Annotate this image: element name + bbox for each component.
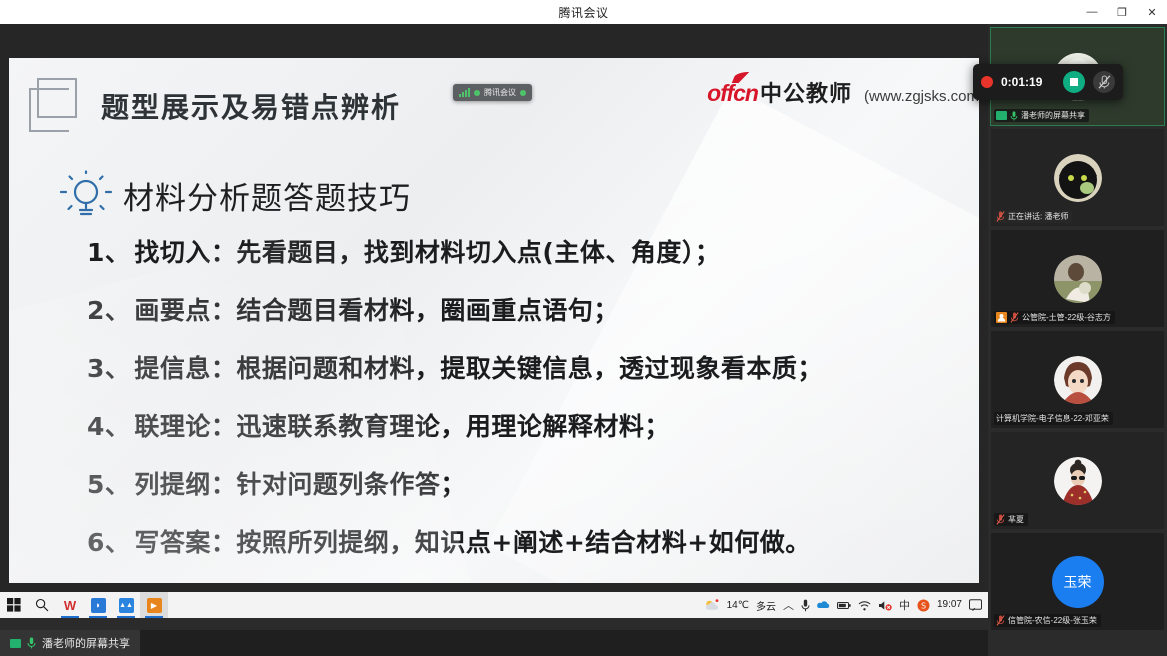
participant-rail: 潘老师的屏幕共享: [988, 24, 1167, 632]
avatar-initials: 玉荣: [1064, 572, 1092, 592]
slide-point: 5、 列提纲：针对问题列条作答；: [87, 465, 967, 501]
share-status-label: 潘老师的屏幕共享: [42, 635, 130, 651]
tencent-meeting-icon: ▶: [147, 598, 162, 613]
slide-point: 1、 找切入：先看题目，找到材料切入点(主体、角度）；: [87, 233, 967, 269]
slide-point: 2、 画要点：结合题目看材料，圈画重点语句；: [87, 291, 967, 327]
participant-tile[interactable]: 芈夏: [991, 432, 1164, 529]
below-taskbar-strip: [0, 618, 988, 630]
recording-control-bar[interactable]: 0:01:19: [973, 64, 1123, 100]
microphone-icon[interactable]: [801, 599, 810, 612]
slide-points-list: 1、 找切入：先看题目，找到材料切入点(主体、角度）； 2、 画要点：结合题目看…: [87, 233, 967, 581]
taskbar-app-tencent-meeting[interactable]: ▶: [140, 592, 168, 618]
screen-share-indicator-pill[interactable]: 腾讯会议: [453, 84, 532, 101]
tencent-meeting-window: 腾讯会议 — ❐ ✕ 题型展示及易错点辨析 offcn 中公教师 (www.zg…: [0, 0, 1167, 656]
share-status-bar: 潘老师的屏幕共享: [0, 630, 988, 656]
system-tray: 14℃ 多云 ︿: [704, 592, 988, 618]
share-status-chip[interactable]: 潘老师的屏幕共享: [0, 630, 140, 656]
participant-name: 计算机学院-电子信息-22-邓亚荣: [996, 413, 1109, 424]
participant-name: 正在讲话: 潘老师: [1008, 211, 1068, 222]
taskbar-app-blue-note[interactable]: ◗: [84, 592, 112, 618]
signal-bars-icon: [459, 88, 470, 97]
offcn-wordmark: offcn: [707, 80, 758, 107]
window-title: 腾讯会议: [90, 4, 1077, 21]
participant-name: 公管院-土管-22级-谷志方: [1022, 312, 1111, 323]
avatar: 玉荣: [1052, 556, 1104, 608]
participant-name: 芈夏: [1008, 514, 1024, 525]
participant-tile-host[interactable]: 公管院-土管-22级-谷志方: [991, 230, 1164, 327]
ime-indicator-icon[interactable]: 中: [899, 597, 910, 613]
slide-subtitle-row: 材料分析题答题技巧: [57, 168, 411, 222]
participant-name: 潘老师的屏幕共享: [1021, 110, 1085, 121]
onedrive-icon[interactable]: [817, 599, 830, 611]
participant-tile-speaker[interactable]: 正在讲话: 潘老师: [991, 129, 1164, 226]
offcn-chinese-name: 中公教师: [760, 76, 852, 108]
wps-icon: W: [64, 598, 76, 613]
point-text: 列提纲：针对问题列条作答；: [134, 465, 466, 501]
microphone-off-icon: [996, 514, 1005, 525]
blue-mountain-icon: ▲▲: [119, 598, 134, 613]
slide-point: 4、 联理论：迅速联系教育理论，用理论解释材料；: [87, 407, 967, 443]
tile-label: 信管院-农信-22级-张玉荣: [994, 614, 1101, 627]
screen-share-icon: [996, 111, 1007, 120]
svg-text:S: S: [921, 601, 926, 610]
point-text: 提信息：根据问题和材料，提取关键信息，透过现象看本质；: [134, 349, 823, 385]
status-dot-icon: [474, 90, 480, 96]
mute-microphone-button[interactable]: [1093, 71, 1115, 93]
taskbar-app-blue-mountain[interactable]: ▲▲: [112, 592, 140, 618]
point-text: 写答案：按照所列提纲，知识点+阐述+结合材料+如何做。: [134, 523, 810, 559]
slide-title: 题型展示及易错点辨析: [101, 86, 401, 126]
recording-timer: 0:01:19: [1001, 75, 1055, 89]
presentation-slide: 题型展示及易错点辨析 offcn 中公教师 (www.zgjsks.com: [9, 58, 979, 583]
tile-label: 公管院-土管-22级-谷志方: [994, 311, 1115, 324]
screen-share-icon: [10, 639, 21, 648]
action-center-icon[interactable]: [969, 599, 982, 611]
slide-point: 6、 写答案：按照所列提纲，知识点+阐述+结合材料+如何做。: [87, 523, 967, 559]
stop-recording-button[interactable]: [1063, 71, 1085, 93]
avatar: [1054, 255, 1102, 303]
point-number: 6、: [87, 523, 130, 559]
lightbulb-icon: [57, 168, 115, 222]
tile-label: 正在讲话: 潘老师: [994, 210, 1072, 223]
tray-overflow-chevron-icon[interactable]: ︿: [783, 597, 794, 613]
microphone-off-icon: [996, 211, 1005, 222]
tile-label: 芈夏: [994, 513, 1028, 526]
tile-label: 潘老师的屏幕共享: [994, 109, 1089, 122]
search-icon: [35, 598, 49, 612]
microphone-off-icon: [1010, 312, 1019, 323]
avatar: [1054, 356, 1102, 404]
window-titlebar: 腾讯会议 — ❐ ✕: [0, 0, 1167, 24]
host-badge-icon: [996, 312, 1007, 323]
volume-muted-icon[interactable]: [878, 600, 892, 611]
tile-label: 计算机学院-电子信息-22-邓亚荣: [994, 412, 1113, 425]
taskbar-search-button[interactable]: [28, 592, 56, 618]
share-pill-label: 腾讯会议: [484, 87, 516, 98]
taskbar-app-wps-office[interactable]: W: [56, 592, 84, 618]
sogou-input-icon[interactable]: S: [917, 599, 930, 612]
point-number: 5、: [87, 465, 130, 501]
share-active-dot-icon: [520, 90, 526, 96]
windows-logo-icon: [7, 598, 21, 612]
point-text: 联理论：迅速联系教育理论，用理论解释材料；: [134, 407, 670, 443]
slide-decoration-icon: [29, 78, 83, 132]
recording-indicator-icon: [981, 76, 993, 88]
point-number: 4、: [87, 407, 130, 443]
offcn-brand-logo: offcn 中公教师 (www.zgjsks.com: [707, 76, 979, 108]
avatar: [1054, 154, 1102, 202]
point-text: 找切入：先看题目，找到材料切入点(主体、角度）；: [134, 233, 720, 269]
point-text: 画要点：结合题目看材料，圈画重点语句；: [134, 291, 619, 327]
microphone-on-icon: [1010, 111, 1018, 121]
wifi-icon[interactable]: [858, 600, 871, 611]
point-number: 3、: [87, 349, 130, 385]
start-button[interactable]: [0, 592, 28, 618]
maximize-button[interactable]: ❐: [1107, 0, 1137, 24]
window-controls: — ❐ ✕: [1077, 0, 1167, 24]
weather-description[interactable]: 多云: [756, 598, 776, 613]
blue-note-icon: ◗: [91, 598, 106, 613]
shared-screen-area: 题型展示及易错点辨析 offcn 中公教师 (www.zgjsks.com: [0, 24, 988, 592]
slide-subtitle: 材料分析题答题技巧: [123, 173, 411, 218]
participant-tile[interactable]: 计算机学院-电子信息-22-邓亚荣: [991, 331, 1164, 428]
windows-taskbar: W ◗ ▲▲ ▶ 14℃ 多云 ︿: [0, 592, 988, 618]
point-number: 2、: [87, 291, 130, 327]
weather-temperature[interactable]: 14℃: [727, 600, 749, 611]
avatar: [1054, 457, 1102, 505]
taskbar-apps: W ◗ ▲▲ ▶: [0, 592, 168, 618]
participant-name: 信管院-农信-22级-张玉荣: [1008, 615, 1097, 626]
offcn-url: (www.zgjsks.com: [864, 88, 979, 105]
point-number: 1、: [87, 233, 130, 269]
minimize-button[interactable]: —: [1077, 0, 1107, 24]
microphone-on-icon: [27, 637, 36, 649]
microphone-off-icon: [996, 615, 1005, 626]
battery-icon[interactable]: [837, 601, 851, 610]
slide-point: 3、 提信息：根据问题和材料，提取关键信息，透过现象看本质；: [87, 349, 967, 385]
participant-tile[interactable]: 玉荣 信管院-农信-22级-张玉荣: [991, 533, 1164, 630]
close-button[interactable]: ✕: [1137, 0, 1167, 24]
taskbar-clock[interactable]: 19:07: [937, 600, 962, 611]
weather-icon: [704, 599, 720, 612]
